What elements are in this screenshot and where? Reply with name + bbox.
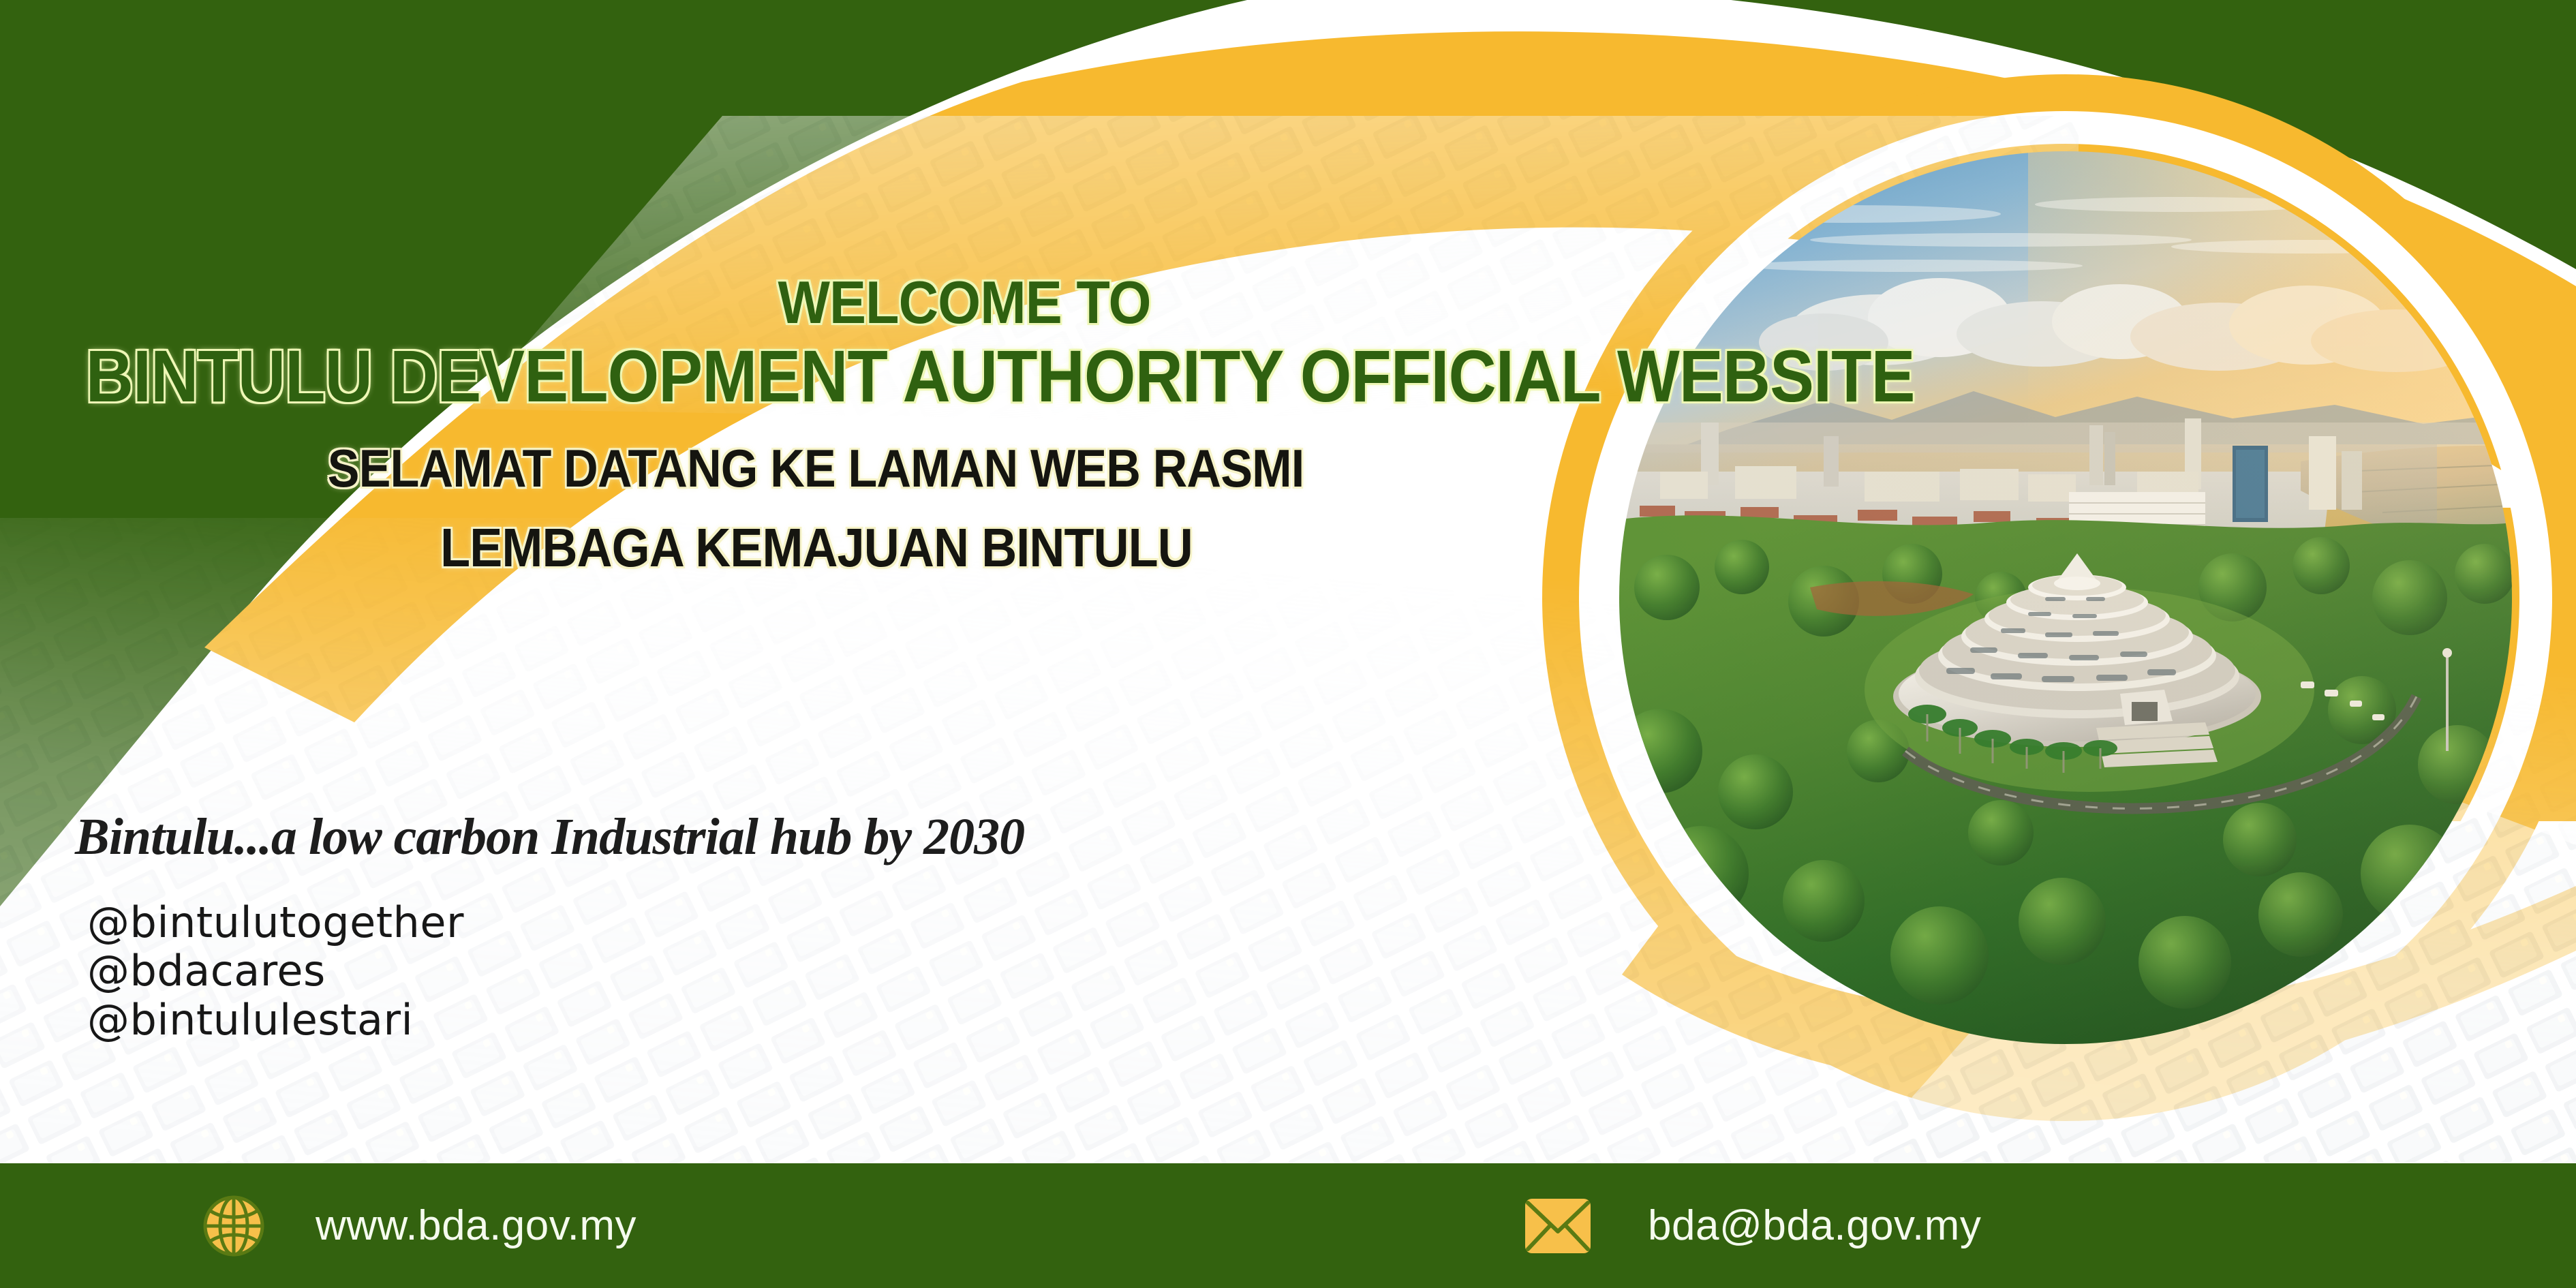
globe-icon [201,1193,266,1259]
organisation-title-line: BINTULU DEVELOPMENT AUTHORITY OFFICIAL W… [86,339,1554,413]
footer-email-item[interactable]: bda@bda.gov.my [1522,1196,1981,1256]
vision-tagline: Bintulu...a low carbon Industrial hub by… [75,808,1024,867]
welcome-line: WELCOME TO [347,273,1582,333]
malay-subtitle-line-2: LEMBAGA KEMAJUAN BINTULU [79,521,1554,575]
social-handles-list: @bintulutogether @bdacares @bintululesta… [87,898,464,1044]
envelope-icon [1522,1196,1593,1256]
bda-welcome-banner: WELCOME TO BINTULU DEVELOPMENT AUTHORITY… [0,0,2576,1288]
social-handle[interactable]: @bintulutogether [87,898,464,947]
email-label: bda@bda.gov.my [1648,1201,1981,1250]
malay-subtitle-line-1: SELAMAT DATANG KE LAMAN WEB RASMI [78,442,1553,495]
social-handle[interactable]: @bintululestari [87,996,464,1044]
website-label: www.bda.gov.my [316,1201,637,1250]
social-handle[interactable]: @bdacares [87,947,464,995]
bintulu-aerial-photo [1619,151,2512,1044]
photo-artwork [1619,151,2512,1044]
headline-block: WELCOME TO BINTULU DEVELOPMENT AUTHORITY… [0,273,1636,575]
footer-contact-bar: www.bda.gov.my bda@bda.gov.my [0,1163,2576,1288]
footer-website-item[interactable]: www.bda.gov.my [201,1193,637,1259]
